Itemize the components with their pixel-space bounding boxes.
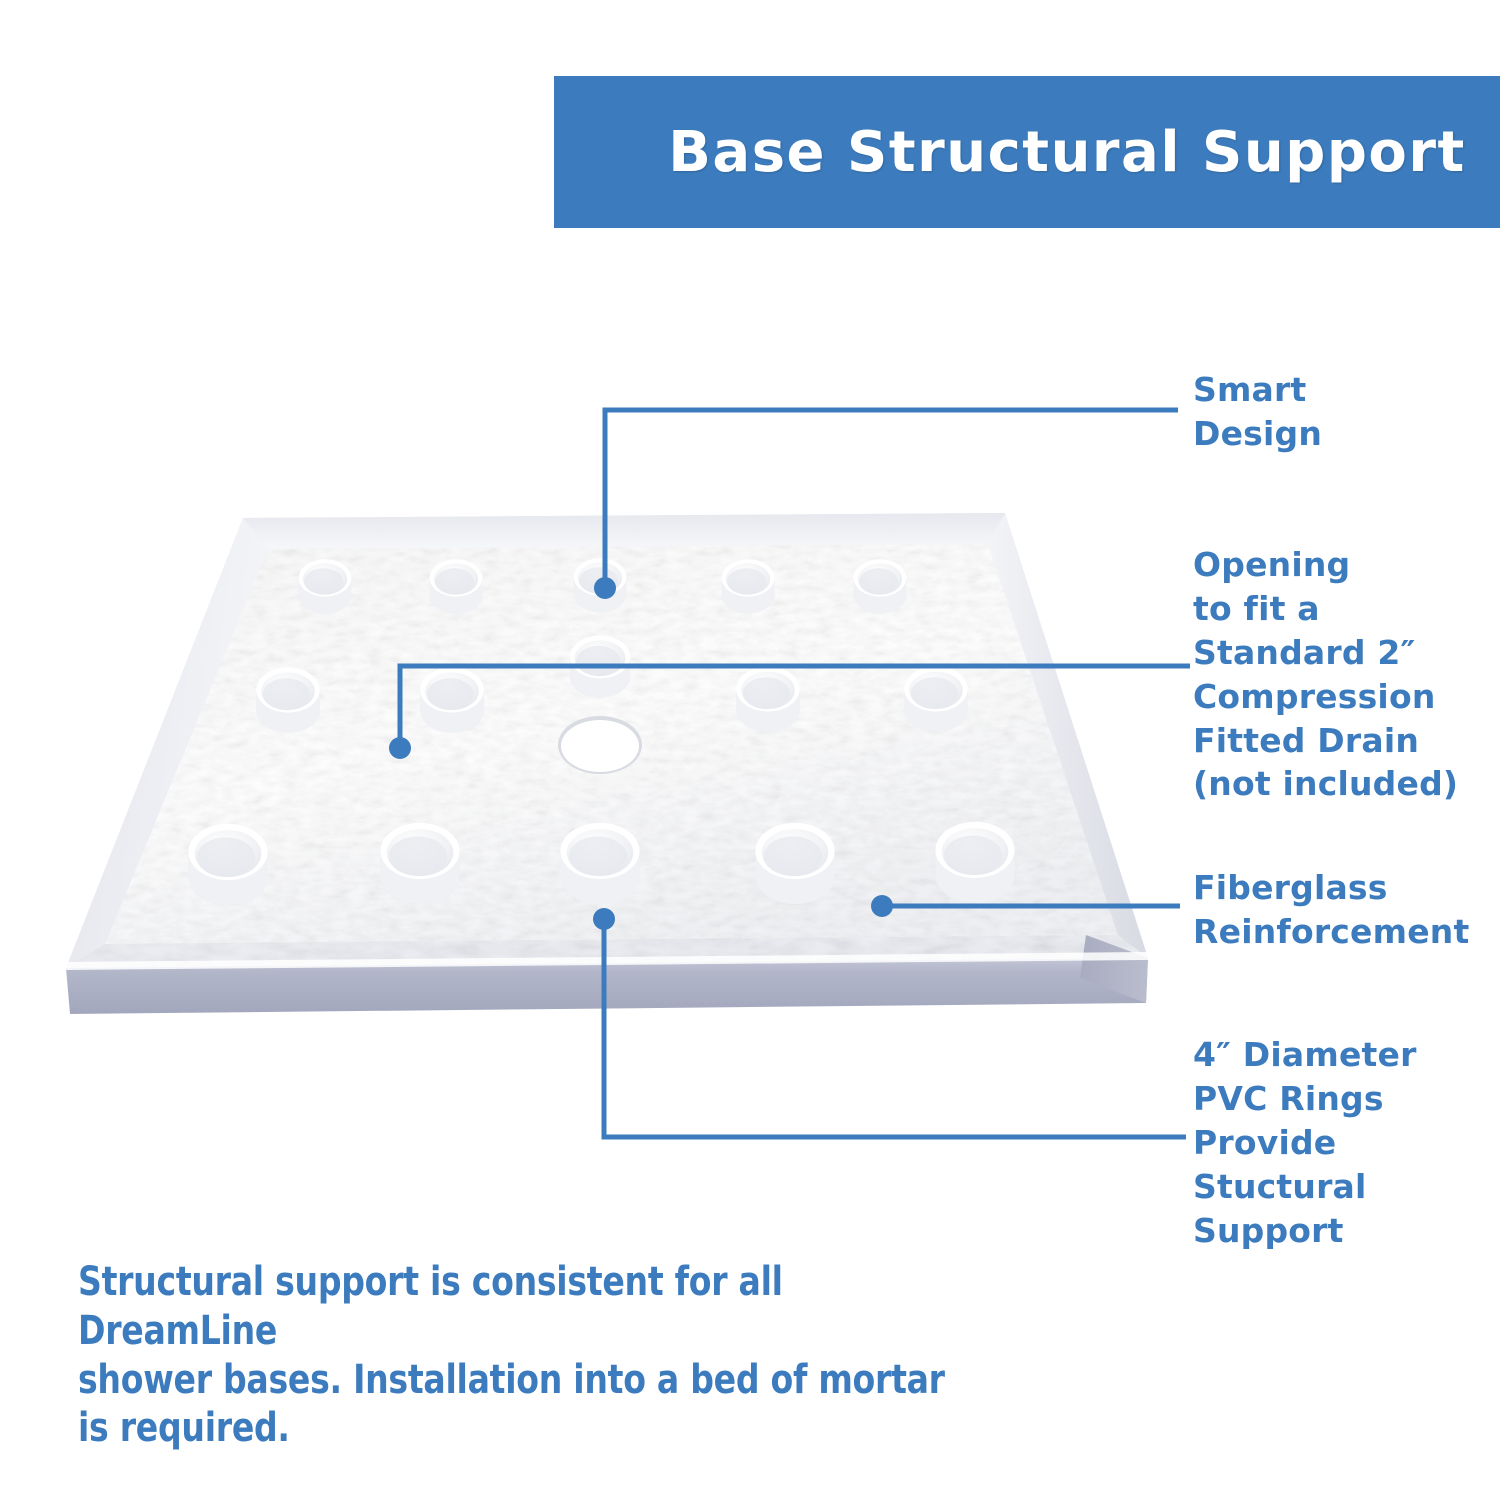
infographic-canvas: Base Structural Support Smart Design Ope… <box>0 0 1500 1500</box>
callout-label-drain-opening: Opening to fit a Standard 2″ Compression… <box>1193 543 1458 806</box>
leader-dot-fiberglass <box>871 895 893 917</box>
pvc-ring <box>256 667 320 732</box>
callout-label-pvc-rings: 4″ Diameter PVC Rings Provide Stuctural … <box>1193 1033 1417 1252</box>
leader-dot-drain-opening <box>389 737 411 759</box>
pvc-ring <box>935 822 1014 903</box>
base-back-threshold <box>243 513 1005 549</box>
callout-label-smart-design: Smart Design <box>1193 368 1322 456</box>
pvc-ring <box>736 666 799 731</box>
pvc-ring <box>299 559 352 613</box>
page-title: Base Structural Support <box>668 120 1466 185</box>
footer-caption: Structural support is consistent for all… <box>78 1258 961 1453</box>
pvc-ring <box>755 823 834 904</box>
pvc-ring <box>854 559 907 613</box>
pvc-ring <box>380 823 459 904</box>
pvc-ring <box>560 823 639 904</box>
leader-dot-smart-design <box>594 577 616 599</box>
pvc-ring <box>420 667 484 732</box>
pvc-ring <box>904 666 967 731</box>
pvc-ring <box>430 559 483 613</box>
header-banner: Base Structural Support <box>554 76 1500 228</box>
callout-label-fiberglass-reinforcement: Fiberglass Reinforcement <box>1193 866 1469 954</box>
pvc-ring <box>722 559 775 613</box>
pvc-ring <box>188 824 267 905</box>
leader-dot-pvc-rings <box>593 908 615 930</box>
drain-opening <box>558 716 642 774</box>
